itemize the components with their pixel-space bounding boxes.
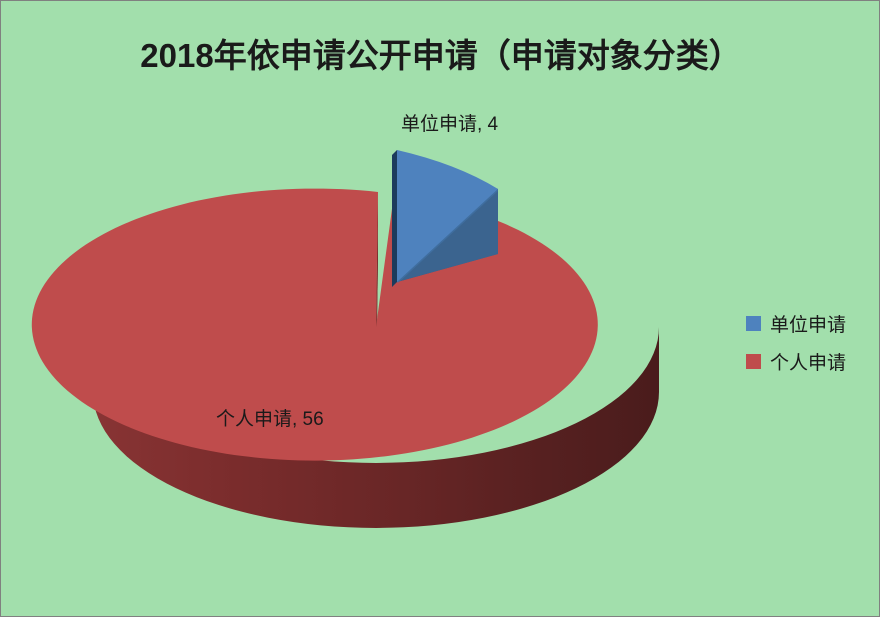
- chart-legend: 单位申请 个人申请: [746, 304, 871, 380]
- legend-label: 个人申请: [770, 348, 846, 375]
- legend-label: 单位申请: [770, 310, 846, 337]
- legend-swatch-icon: [746, 316, 761, 331]
- legend-item-person-application[interactable]: 个人申请: [746, 342, 871, 380]
- legend-item-unit-application[interactable]: 单位申请: [746, 304, 871, 342]
- data-label-person-application: 个人申请, 56: [216, 404, 324, 431]
- legend-swatch-icon: [746, 354, 761, 369]
- pie-slice-person-3d: [32, 189, 659, 528]
- data-label-unit-application: 单位申请, 4: [401, 109, 498, 136]
- pie-chart-figure: 2018年依申请公开申请（申请对象分类）: [0, 0, 880, 617]
